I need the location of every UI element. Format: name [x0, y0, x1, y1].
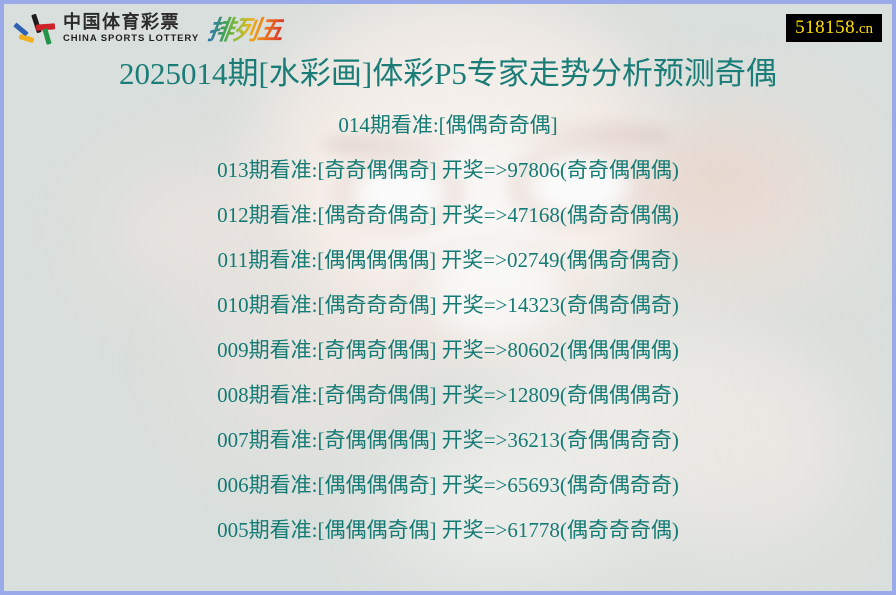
prediction-row: 010期看准:[偶奇奇奇偶] 开奖=>14323(奇偶奇偶奇) — [4, 295, 892, 340]
prediction-row-text: 014期看准:[偶偶奇奇偶] — [338, 113, 557, 137]
lottery-prediction-page: 中国体育彩票 CHINA SPORTS LOTTERY 排列五 518158.c… — [0, 0, 896, 595]
prediction-row: 006期看准:[偶偶偶偶奇] 开奖=>65693(偶奇偶奇奇) — [4, 475, 892, 520]
prediction-row-text: 010期看准:[偶奇奇奇偶] 开奖=>14323(奇偶奇偶奇) — [217, 293, 679, 317]
prediction-row-text: 012期看准:[偶奇奇偶奇] 开奖=>47168(偶奇奇偶偶) — [217, 203, 679, 227]
prediction-row: 013期看准:[奇奇偶偶奇] 开奖=>97806(奇奇偶偶偶) — [4, 160, 892, 205]
page-title: 2025014期[水彩画]体彩P5专家走势分析预测奇偶 — [4, 52, 892, 89]
prediction-row: 009期看准:[奇偶奇偶偶] 开奖=>80602(偶偶偶偶偶) — [4, 340, 892, 385]
prediction-row: 011期看准:[偶偶偶偶偶] 开奖=>02749(偶偶奇偶奇) — [4, 250, 892, 295]
prediction-row: 005期看准:[偶偶偶奇偶] 开奖=>61778(偶奇奇奇偶) — [4, 520, 892, 565]
prediction-row: 008期看准:[奇偶奇偶偶] 开奖=>12809(奇偶偶偶奇) — [4, 385, 892, 430]
prediction-row-text: 007期看准:[奇偶偶偶偶] 开奖=>36213(奇偶偶奇奇) — [217, 428, 679, 452]
sports-lottery-logo-icon — [12, 11, 56, 45]
prediction-row: 007期看准:[奇偶偶偶偶] 开奖=>36213(奇偶偶奇奇) — [4, 430, 892, 475]
watermark-domain: 518158 — [795, 17, 855, 38]
prediction-row: 012期看准:[偶奇奇偶奇] 开奖=>47168(偶奇奇偶偶) — [4, 205, 892, 250]
prediction-row-text: 006期看准:[偶偶偶偶奇] 开奖=>65693(偶奇偶奇奇) — [217, 473, 679, 497]
prediction-row: 014期看准:[偶偶奇奇偶] — [4, 115, 892, 160]
brand-text-block: 中国体育彩票 CHINA SPORTS LOTTERY — [63, 13, 199, 44]
brand-lockup: 中国体育彩票 CHINA SPORTS LOTTERY 排列五 — [12, 10, 283, 47]
prediction-row-text: 009期看准:[奇偶奇偶偶] 开奖=>80602(偶偶偶偶偶) — [217, 338, 679, 362]
brand-name-english: CHINA SPORTS LOTTERY — [63, 34, 199, 44]
prediction-row-text: 008期看准:[奇偶奇偶偶] 开奖=>12809(奇偶偶偶奇) — [217, 383, 679, 407]
prediction-row-text: 011期看准:[偶偶偶偶偶] 开奖=>02749(偶偶奇偶奇) — [218, 248, 679, 272]
watermark-tld: .cn — [855, 21, 873, 37]
prediction-row-text: 013期看准:[奇奇偶偶奇] 开奖=>97806(奇奇偶偶偶) — [217, 158, 679, 182]
page-header: 中国体育彩票 CHINA SPORTS LOTTERY 排列五 518158.c… — [4, 4, 892, 52]
prediction-list: 014期看准:[偶偶奇奇偶] 013期看准:[奇奇偶偶奇] 开奖=>97806(… — [4, 115, 892, 565]
brand-name-chinese: 中国体育彩票 — [63, 13, 199, 31]
site-watermark: 518158.cn — [786, 14, 882, 42]
prediction-row-text: 005期看准:[偶偶偶奇偶] 开奖=>61778(偶奇奇奇偶) — [217, 518, 679, 542]
game-name-pailiewu: 排列五 — [205, 10, 285, 47]
